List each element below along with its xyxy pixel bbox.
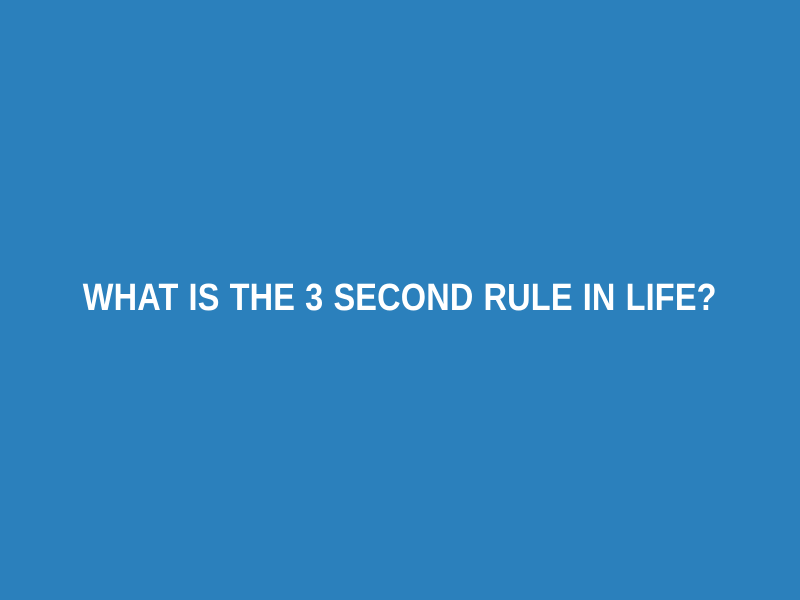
hero-card: WHAT IS THE 3 SECOND RULE IN LIFE? [0, 0, 800, 600]
headline-container: WHAT IS THE 3 SECOND RULE IN LIFE? [0, 278, 800, 321]
headline-text: WHAT IS THE 3 SECOND RULE IN LIFE? [83, 278, 717, 319]
